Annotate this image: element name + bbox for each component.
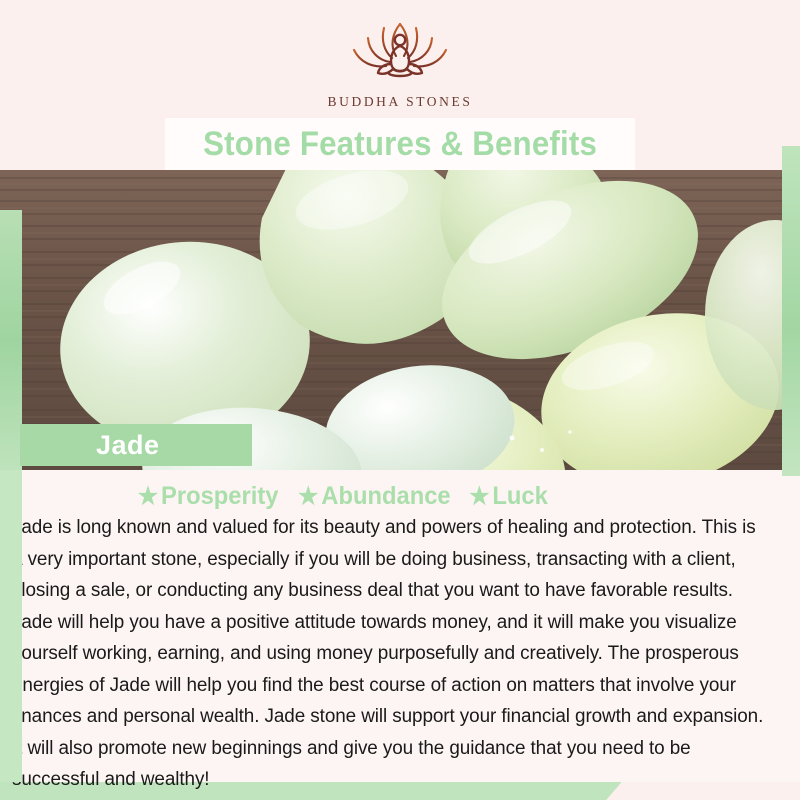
title-banner: Stone Features & Benefits: [165, 118, 635, 170]
benefit-label: Luck: [493, 482, 548, 510]
brand-name: BUDDHA STONES: [328, 94, 473, 110]
star-icon: ★: [298, 483, 318, 510]
description-paragraph: Jade is long known and valued for its be…: [12, 512, 769, 796]
star-icon: ★: [469, 483, 489, 510]
stone-name-label: Jade: [96, 430, 160, 461]
benefit-label: Prosperity: [161, 482, 278, 510]
left-accent-bar: [0, 210, 22, 472]
lotus-meditation-icon: [348, 18, 452, 88]
brand-logo: BUDDHA STONES: [0, 18, 800, 110]
stone-name-badge: Jade: [20, 424, 252, 466]
star-icon: ★: [137, 483, 157, 510]
right-accent-bar: [782, 146, 800, 476]
page-title: Stone Features & Benefits: [203, 125, 597, 164]
benefit-item-prosperity: ★Prosperity: [137, 482, 278, 511]
benefits-row: ★Prosperity ★Abundance ★Luck: [22, 482, 662, 511]
content-panel: ★Prosperity ★Abundance ★Luck Jade is lon…: [22, 470, 800, 782]
benefit-item-abundance: ★Abundance: [298, 482, 451, 511]
left-lower-accent-bar: [0, 470, 22, 782]
benefit-label: Abundance: [322, 482, 451, 510]
benefit-item-luck: ★Luck: [469, 482, 548, 511]
stone-info-card: BUDDHA STONES Stone Features & Benefits: [0, 0, 800, 800]
